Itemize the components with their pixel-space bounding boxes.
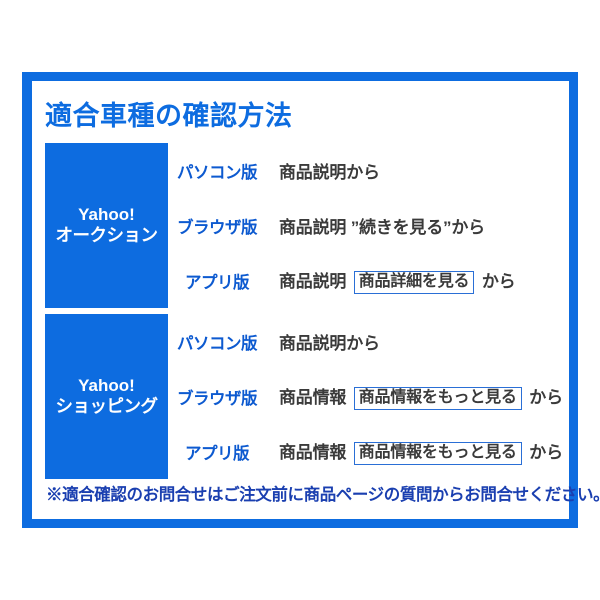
platform-brand: Yahoo! <box>45 376 168 396</box>
howto-cell-browser-shopping: 商品情報 商品情報をもっと見る から <box>266 369 561 424</box>
platform-label-shopping: Yahoo! ショッピング <box>45 314 168 479</box>
table-row: Yahoo! ショッピング パソコン版 商品説明から <box>45 314 561 369</box>
version-label-app-auction: アプリ版 <box>168 253 266 308</box>
more-product-info-button[interactable]: 商品情報をもっと見る <box>354 387 522 410</box>
version-label-app-shopping: アプリ版 <box>168 424 266 479</box>
howto-suffix: から <box>529 443 563 462</box>
howto-cell-pc-shopping: 商品説明から <box>266 314 561 369</box>
vehicle-compatibility-table: Yahoo! オークション パソコン版 商品説明から ブラウザ版 商品説明 ”続… <box>45 143 561 479</box>
howto-cell-app-auction: 商品説明 商品詳細を見る から <box>266 253 561 308</box>
howto-cell-app-shopping: 商品情報 商品情報をもっと見る から <box>266 424 561 479</box>
howto-prefix: 商品情報 <box>279 388 346 407</box>
howto-suffix: から <box>529 388 563 407</box>
howto-prefix: 商品情報 <box>279 443 346 462</box>
version-label-pc-shopping: パソコン版 <box>168 314 266 369</box>
platform-label-auction: Yahoo! オークション <box>45 143 168 308</box>
howto-prefix: 商品説明から <box>279 334 380 353</box>
howto-cell-pc-auction: 商品説明から <box>266 143 561 198</box>
platform-service: ショッピング <box>45 396 168 417</box>
howto-prefix: 商品説明から <box>279 163 380 182</box>
fitment-info-banner: 適合車種の確認方法 Yahoo! オークション パソコン版 商品説明から <box>22 72 578 528</box>
howto-prefix: 商品説明 <box>279 272 346 291</box>
version-label-pc-auction: パソコン版 <box>168 143 266 198</box>
product-detail-button[interactable]: 商品詳細を見る <box>354 271 475 294</box>
footer-note: ※適合確認のお問合せはご注文前に商品ページの質問からお問合せください。 <box>46 481 600 505</box>
howto-prefix: 商品説明 ”続きを見る”から <box>279 218 485 237</box>
page-title: 適合車種の確認方法 <box>45 94 293 133</box>
more-product-info-button[interactable]: 商品情報をもっと見る <box>354 442 522 465</box>
platform-brand: Yahoo! <box>45 205 168 225</box>
table-row: Yahoo! オークション パソコン版 商品説明から <box>45 143 561 198</box>
platform-service: オークション <box>45 225 168 246</box>
version-label-browser-shopping: ブラウザ版 <box>168 369 266 424</box>
howto-cell-browser-auction: 商品説明 ”続きを見る”から <box>266 198 561 253</box>
version-label-browser-auction: ブラウザ版 <box>168 198 266 253</box>
banner-inner-panel: 適合車種の確認方法 Yahoo! オークション パソコン版 商品説明から <box>32 81 569 519</box>
howto-suffix: から <box>482 272 516 291</box>
